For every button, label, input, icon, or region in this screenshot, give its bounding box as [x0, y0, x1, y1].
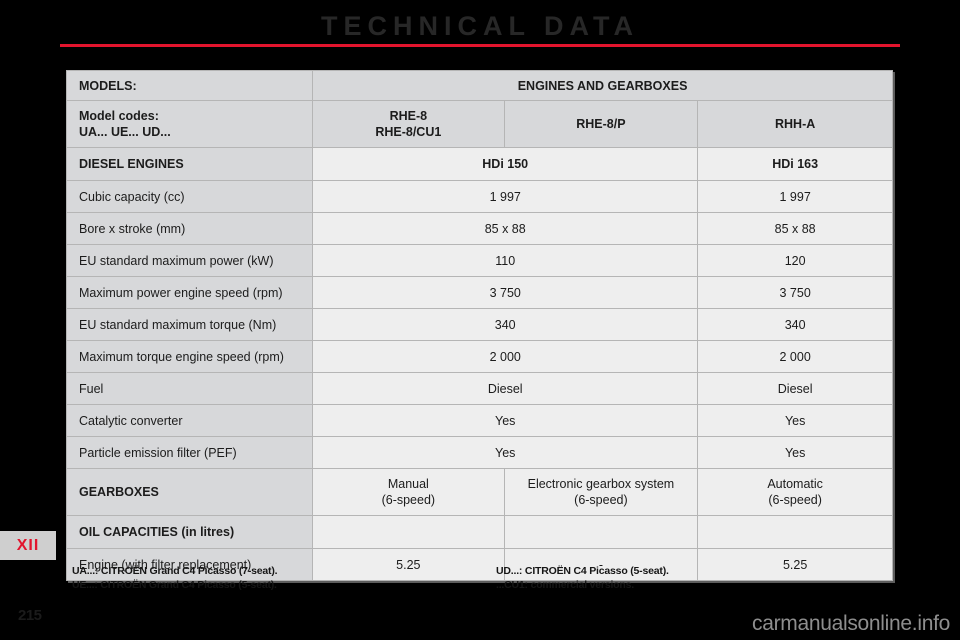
cell-oil-header-blank-2	[313, 516, 504, 549]
row-value-b: 120	[698, 245, 893, 277]
code-rhe8: RHE-8	[325, 108, 491, 124]
code-rhe8-cu1: RHE-8/CU1	[325, 124, 491, 140]
cell-engines-gearboxes-label: ENGINES AND GEARBOXES	[313, 71, 893, 101]
cell-engine-oil-manual: 5.25	[313, 549, 504, 581]
cell-engine-hdi150: HDi 150	[313, 148, 698, 181]
gearbox-electronic-name: Electronic gearbox system	[517, 476, 686, 492]
row-value-a: 340	[313, 309, 698, 341]
row-value-b: Yes	[698, 405, 893, 437]
cell-engine-oil-automatic: 5.25	[698, 549, 893, 581]
row-value-b: Diesel	[698, 373, 893, 405]
cell-code-rhe8p: RHE-8/P	[504, 101, 698, 148]
cell-gearboxes-label: GEARBOXES	[67, 469, 313, 516]
row-value-b: 340	[698, 309, 893, 341]
cell-gearbox-manual: Manual (6-speed)	[313, 469, 504, 516]
row-value-a: Diesel	[313, 373, 698, 405]
table-row-diesel-engines: DIESEL ENGINES HDi 150 HDi 163	[67, 148, 893, 181]
table-row: Cubic capacity (cc) 1 997 1 997	[67, 181, 893, 213]
footnote-cu1: ...CU1: commercial versions.	[496, 578, 669, 592]
table-row-model-codes: Model codes: UA... UE... UD... RHE-8 RHE…	[67, 101, 893, 148]
row-label: Catalytic converter	[67, 405, 313, 437]
row-value-a: 110	[313, 245, 698, 277]
row-label: EU standard maximum power (kW)	[67, 245, 313, 277]
table-row-oil-capacities-header: OIL CAPACITIES (in litres)	[67, 516, 893, 549]
row-label: Fuel	[67, 373, 313, 405]
table-row-models-header: MODELS: ENGINES AND GEARBOXES	[67, 71, 893, 101]
row-value-b: 1 997	[698, 181, 893, 213]
table-row: EU standard maximum torque (Nm) 340 340	[67, 309, 893, 341]
table-row: Fuel Diesel Diesel	[67, 373, 893, 405]
page-title: TECHNICAL DATA	[0, 10, 960, 42]
row-value-a: 85 x 88	[313, 213, 698, 245]
row-value-a: 2 000	[313, 341, 698, 373]
cell-oil-header-blank-4	[698, 516, 893, 549]
chapter-marker-tab: XII	[0, 531, 56, 560]
cell-engine-hdi163: HDi 163	[698, 148, 893, 181]
footnote-ue: UE...: CITROËN Grand C4 Picasso (5-seat)…	[72, 578, 277, 592]
row-value-b: 2 000	[698, 341, 893, 373]
row-value-b: 3 750	[698, 277, 893, 309]
row-label: Cubic capacity (cc)	[67, 181, 313, 213]
cell-model-codes-label: Model codes: UA... UE... UD...	[67, 101, 313, 148]
gearbox-manual-name: Manual	[325, 476, 491, 492]
cell-code-rhha: RHH-A	[698, 101, 893, 148]
row-value-a: Yes	[313, 437, 698, 469]
model-codes-line-2: UA... UE... UD...	[79, 124, 300, 140]
row-label: Bore x stroke (mm)	[67, 213, 313, 245]
table-row: Particle emission filter (PEF) Yes Yes	[67, 437, 893, 469]
page-number: 215	[18, 607, 42, 624]
table-row-gearboxes: GEARBOXES Manual (6-speed) Electronic ge…	[67, 469, 893, 516]
cell-gearbox-automatic: Automatic (6-speed)	[698, 469, 893, 516]
cell-code-rhe8: RHE-8 RHE-8/CU1	[313, 101, 504, 148]
footnote-column-left: UA...: CITROËN Grand C4 Picasso (7-seat)…	[72, 564, 277, 592]
gearbox-automatic-speed: (6-speed)	[710, 492, 880, 508]
cell-oil-capacities-label: OIL CAPACITIES (in litres)	[67, 516, 313, 549]
footnote-ud: UD...: CITROËN C4 Picasso (5-seat).	[496, 564, 669, 578]
table-row: Maximum power engine speed (rpm) 3 750 3…	[67, 277, 893, 309]
model-codes-line-1: Model codes:	[79, 108, 300, 124]
row-label: Maximum power engine speed (rpm)	[67, 277, 313, 309]
cell-oil-header-blank-3	[504, 516, 698, 549]
gearbox-electronic-speed: (6-speed)	[517, 492, 686, 508]
technical-data-table: MODELS: ENGINES AND GEARBOXES Model code…	[66, 70, 893, 581]
row-value-b: Yes	[698, 437, 893, 469]
cell-gearbox-electronic: Electronic gearbox system (6-speed)	[504, 469, 698, 516]
table-row: Bore x stroke (mm) 85 x 88 85 x 88	[67, 213, 893, 245]
row-value-a: Yes	[313, 405, 698, 437]
footnote-column-right: UD...: CITROËN C4 Picasso (5-seat). ...C…	[496, 564, 669, 592]
cell-models-label: MODELS:	[67, 71, 313, 101]
gearbox-manual-speed: (6-speed)	[325, 492, 491, 508]
row-value-b: 85 x 88	[698, 213, 893, 245]
cell-diesel-engines-label: DIESEL ENGINES	[67, 148, 313, 181]
site-watermark: carmanualsonline.info	[752, 612, 950, 636]
gearbox-automatic-name: Automatic	[710, 476, 880, 492]
table-row: EU standard maximum power (kW) 110 120	[67, 245, 893, 277]
row-label: Maximum torque engine speed (rpm)	[67, 341, 313, 373]
row-label: Particle emission filter (PEF)	[67, 437, 313, 469]
table-row: Maximum torque engine speed (rpm) 2 000 …	[67, 341, 893, 373]
row-value-a: 1 997	[313, 181, 698, 213]
row-value-a: 3 750	[313, 277, 698, 309]
row-label: EU standard maximum torque (Nm)	[67, 309, 313, 341]
footnote-ua: UA...: CITROËN Grand C4 Picasso (7-seat)…	[72, 564, 277, 578]
table-row: Catalytic converter Yes Yes	[67, 405, 893, 437]
title-underline-rule	[60, 44, 900, 47]
